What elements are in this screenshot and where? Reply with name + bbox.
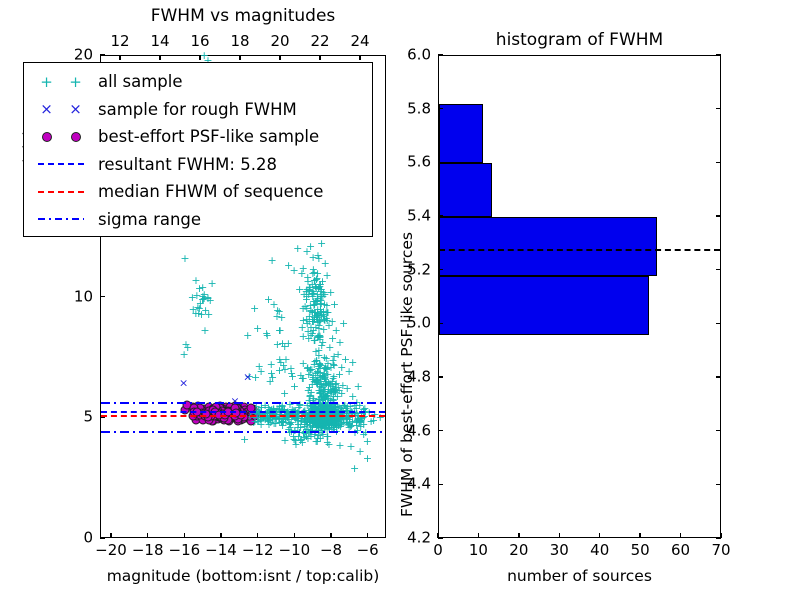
scatter-point-all-sample: + xyxy=(197,311,205,319)
scatter-point-all-sample: + xyxy=(250,305,258,313)
scatter-point-all-sample: + xyxy=(332,417,340,425)
scatter-point-all-sample: + xyxy=(346,403,354,411)
legend-label: all sample xyxy=(98,72,183,91)
scatter-point-all-sample: + xyxy=(355,418,363,426)
left-xtick-label: −6 xyxy=(357,543,379,558)
scatter-point-all-sample: + xyxy=(317,312,325,320)
scatter-point-all-sample: + xyxy=(328,318,336,326)
scatter-point-all-sample: + xyxy=(284,416,292,424)
scatter-point-all-sample: + xyxy=(313,376,321,384)
scatter-point-all-sample: + xyxy=(198,296,206,304)
scatter-point-all-sample: + xyxy=(323,416,331,424)
scatter-point-all-sample: + xyxy=(308,281,316,289)
right-ytick-mark xyxy=(438,162,443,163)
scatter-point-all-sample: + xyxy=(314,322,322,330)
right-xtick-mark xyxy=(559,533,560,538)
scatter-point-all-sample: + xyxy=(269,420,277,428)
left-xtick-label: −18 xyxy=(132,543,164,558)
left-xtick-label: −12 xyxy=(242,543,274,558)
scatter-point-all-sample: + xyxy=(332,327,340,335)
scatter-point-all-sample: + xyxy=(312,357,320,365)
scatter-point-all-sample: + xyxy=(311,298,319,306)
right-xtick-label: 0 xyxy=(433,543,443,558)
scatter-point-all-sample: + xyxy=(279,419,287,427)
left-xtick-label: −8 xyxy=(320,543,342,558)
scatter-point-all-sample: + xyxy=(193,304,201,312)
scatter-point-all-sample: + xyxy=(298,324,306,332)
scatter-point-all-sample: + xyxy=(316,380,324,388)
scatter-point-all-sample: + xyxy=(361,429,369,437)
scatter-point-all-sample: + xyxy=(317,342,325,350)
right-ytick-mark-mirror xyxy=(716,376,721,377)
scatter-point-all-sample: + xyxy=(323,433,331,441)
scatter-point-all-sample: + xyxy=(320,317,328,325)
scatter-point-all-sample: + xyxy=(324,322,332,330)
scatter-point-all-sample: + xyxy=(363,455,371,463)
scatter-point-all-sample: + xyxy=(316,422,324,430)
scatter-point-all-sample: + xyxy=(257,404,265,412)
scatter-point-all-sample: + xyxy=(316,417,324,425)
scatter-point-all-sample: + xyxy=(303,328,311,336)
scatter-point-all-sample: + xyxy=(314,421,322,429)
scatter-point-all-sample: + xyxy=(326,364,334,372)
scatter-point-all-sample: + xyxy=(207,280,215,288)
right-ytick-label: 5.8 xyxy=(407,101,431,116)
scatter-point-all-sample: + xyxy=(336,423,344,431)
histogram-reference-line xyxy=(439,249,720,251)
legend-item: best-effort PSF-like sample xyxy=(24,123,372,151)
scatter-point-all-sample: + xyxy=(312,417,320,425)
scatter-point-all-sample: + xyxy=(312,298,320,306)
right-ytick-label: 5.4 xyxy=(407,209,431,224)
scatter-point-all-sample: + xyxy=(321,393,329,401)
left-ytick-mark xyxy=(100,54,105,55)
scatter-point-all-sample: + xyxy=(319,313,327,321)
right-ytick-mark xyxy=(438,323,443,324)
scatter-point-all-sample: + xyxy=(302,316,310,324)
scatter-point-all-sample: + xyxy=(314,418,322,426)
scatter-point-all-sample: + xyxy=(319,420,327,428)
scatter-point-all-sample: + xyxy=(286,365,294,373)
scatter-point-all-sample: + xyxy=(277,314,285,322)
scatter-point-all-sample: + xyxy=(312,298,320,306)
scatter-point-all-sample: + xyxy=(287,370,295,378)
left-xtick-mark xyxy=(294,533,295,538)
scatter-point-all-sample: + xyxy=(337,420,345,428)
legend-marker xyxy=(24,163,98,165)
scatter-point-all-sample: + xyxy=(315,418,323,426)
scatter-point-all-sample: + xyxy=(321,388,329,396)
left-top-xtick-label: 24 xyxy=(350,34,369,49)
scatter-point-all-sample: + xyxy=(315,334,323,342)
scatter-point-all-sample: + xyxy=(335,371,343,379)
scatter-point-all-sample: + xyxy=(285,420,293,428)
scatter-point-all-sample: + xyxy=(326,417,334,425)
scatter-point-all-sample: + xyxy=(321,416,329,424)
scatter-point-all-sample: + xyxy=(263,332,271,340)
scatter-point-all-sample: + xyxy=(310,277,318,285)
scatter-point-all-sample: + xyxy=(313,314,321,322)
scatter-point-all-sample: + xyxy=(323,392,331,400)
left-top-xtick-mark xyxy=(159,55,160,60)
scatter-point-all-sample: + xyxy=(311,283,319,291)
scatter-point-all-sample: + xyxy=(309,318,317,326)
scatter-point-all-sample: + xyxy=(312,313,320,321)
right-xtick-label: 30 xyxy=(550,543,569,558)
scatter-point-all-sample: + xyxy=(313,417,321,425)
scatter-point-all-sample: + xyxy=(291,437,299,445)
scatter-point-all-sample: + xyxy=(267,361,275,369)
scatter-point-all-sample: + xyxy=(284,262,292,270)
scatter-point-all-sample: + xyxy=(318,422,326,430)
scatter-point-all-sample: + xyxy=(312,285,320,293)
scatter-point-all-sample: + xyxy=(314,325,322,333)
scatter-point-all-sample: + xyxy=(317,418,325,426)
scatter-point-all-sample: + xyxy=(331,417,339,425)
scatter-point-all-sample: + xyxy=(312,416,320,424)
scatter-point-all-sample: + xyxy=(275,416,283,424)
right-ytick-mark xyxy=(438,537,443,538)
scatter-point-all-sample: + xyxy=(299,291,307,299)
scatter-point-all-sample: + xyxy=(306,284,314,292)
scatter-point-all-sample: + xyxy=(344,421,352,429)
scatter-point-all-sample: + xyxy=(320,365,328,373)
scatter-point-all-sample: + xyxy=(337,364,345,372)
legend-label: sigma range xyxy=(98,210,201,229)
scatter-point-all-sample: + xyxy=(322,422,330,430)
scatter-point-all-sample: + xyxy=(319,382,327,390)
scatter-point-all-sample: + xyxy=(309,418,317,426)
scatter-point-all-sample: + xyxy=(305,367,313,375)
scatter-point-all-sample: + xyxy=(326,289,334,297)
scatter-point-all-sample: + xyxy=(253,325,261,333)
scatter-point-all-sample: + xyxy=(298,439,306,447)
scatter-point-all-sample: + xyxy=(327,420,335,428)
scatter-point-all-sample: + xyxy=(347,422,355,430)
scatter-point-all-sample: + xyxy=(301,419,309,427)
scatter-point-all-sample: + xyxy=(315,416,323,424)
legend-label: median FHWM of sequence xyxy=(98,182,323,201)
right-xtick-label: 10 xyxy=(469,543,488,558)
scatter-point-all-sample: + xyxy=(302,248,310,256)
scatter-point-all-sample: + xyxy=(302,296,310,304)
scatter-point-all-sample: + xyxy=(313,312,321,320)
scatter-point-all-sample: + xyxy=(304,286,312,294)
scatter-point-all-sample: + xyxy=(306,307,314,315)
scatter-point-all-sample: + xyxy=(296,372,304,380)
scatter-point-all-sample: + xyxy=(309,290,317,298)
scatter-point-all-sample: + xyxy=(325,421,333,429)
scatter-point-all-sample: + xyxy=(200,327,208,335)
scatter-point-all-sample: + xyxy=(311,378,319,386)
right-ytick-mark xyxy=(438,54,443,55)
scatter-point-all-sample: + xyxy=(342,416,350,424)
circle-icon xyxy=(71,132,81,142)
scatter-point-all-sample: + xyxy=(319,388,327,396)
scatter-point-all-sample: + xyxy=(324,382,332,390)
left-top-xtick-mark xyxy=(319,55,320,60)
scatter-point-all-sample: + xyxy=(284,340,292,348)
scatter-point-all-sample: + xyxy=(278,403,286,411)
scatter-point-all-sample: + xyxy=(330,301,338,309)
scatter-point-all-sample: + xyxy=(289,433,297,441)
scatter-point-all-sample: + xyxy=(305,318,313,326)
left-top-xtick-label: 18 xyxy=(230,34,249,49)
right-xaxis-label: number of sources xyxy=(507,569,652,585)
scatter-point-all-sample: + xyxy=(290,383,298,391)
scatter-point-all-sample: + xyxy=(329,420,337,428)
right-xtick-label: 40 xyxy=(590,543,609,558)
scatter-point-all-sample: + xyxy=(313,306,321,314)
scatter-point-all-sample: + xyxy=(268,416,276,424)
scatter-point-all-sample: + xyxy=(321,416,329,424)
scatter-point-all-sample: + xyxy=(328,378,336,386)
right-ytick-mark-mirror xyxy=(716,162,721,163)
scatter-point-all-sample: + xyxy=(331,421,339,429)
scatter-point-all-sample: + xyxy=(321,400,329,408)
scatter-point-all-sample: + xyxy=(319,388,327,396)
scatter-point-all-sample: + xyxy=(329,385,337,393)
scatter-point-all-sample: + xyxy=(311,309,319,317)
scatter-point-all-sample: + xyxy=(328,357,336,365)
scatter-point-all-sample: + xyxy=(330,418,338,426)
scatter-point-all-sample: + xyxy=(269,301,277,309)
left-top-xtick-mark xyxy=(119,55,120,60)
scatter-point-all-sample: + xyxy=(331,387,339,395)
scatter-point-all-sample: + xyxy=(329,361,337,369)
scatter-point-all-sample: + xyxy=(315,317,323,325)
scatter-point-all-sample: + xyxy=(312,420,320,428)
scatter-point-all-sample: + xyxy=(321,260,329,268)
legend-box: ++all sample××sample for rough FWHMbest-… xyxy=(23,62,373,237)
scatter-point-all-sample: + xyxy=(314,417,322,425)
scatter-point-all-sample: + xyxy=(264,417,272,425)
scatter-point-all-sample: + xyxy=(277,419,285,427)
scatter-point-all-sample: + xyxy=(299,265,307,273)
legend-marker xyxy=(24,132,98,142)
plus-icon: + xyxy=(69,77,82,87)
scatter-point-all-sample: + xyxy=(328,383,336,391)
scatter-point-all-sample: + xyxy=(350,465,358,473)
legend-label: sample for rough FWHM xyxy=(98,100,297,119)
scatter-point-all-sample: + xyxy=(294,433,302,441)
scatter-point-all-sample: + xyxy=(331,389,339,397)
scatter-point-all-sample: + xyxy=(324,379,332,387)
scatter-point-all-sample: + xyxy=(322,417,330,425)
right-xtick-label: 20 xyxy=(509,543,528,558)
scatter-point-all-sample: + xyxy=(304,371,312,379)
scatter-point-all-sample: + xyxy=(299,317,307,325)
scatter-point-all-sample: + xyxy=(313,381,321,389)
scatter-point-all-sample: + xyxy=(321,416,329,424)
scatter-point-all-sample: + xyxy=(313,311,321,319)
scatter-point-all-sample: + xyxy=(330,419,338,427)
scatter-point-all-sample: + xyxy=(308,418,316,426)
scatter-point-all-sample: + xyxy=(306,302,314,310)
right-xtick-label: 60 xyxy=(671,543,690,558)
scatter-point-all-sample: + xyxy=(321,378,329,386)
scatter-point-all-sample: + xyxy=(329,418,337,426)
scatter-point-all-sample: + xyxy=(329,419,337,427)
scatter-point-all-sample: + xyxy=(343,385,351,393)
left-plot-title: FWHM vs magnitudes xyxy=(151,8,336,25)
scatter-point-all-sample: + xyxy=(323,419,331,427)
scatter-point-all-sample: + xyxy=(321,403,329,411)
scatter-point-all-sample: + xyxy=(281,356,289,364)
scatter-point-all-sample: + xyxy=(320,370,328,378)
scatter-point-all-sample: + xyxy=(331,403,339,411)
scatter-point-all-sample: + xyxy=(314,284,322,292)
scatter-point-all-sample: + xyxy=(307,403,315,411)
left-top-xtick-mark xyxy=(199,55,200,60)
scatter-point-all-sample: + xyxy=(303,274,311,282)
scatter-point-all-sample: + xyxy=(311,421,319,429)
scatter-point-all-sample: + xyxy=(313,377,321,385)
scatter-point-all-sample: + xyxy=(307,416,315,424)
scatter-point-all-sample: + xyxy=(311,324,319,332)
scatter-point-all-sample: + xyxy=(333,393,341,401)
scatter-point-all-sample: + xyxy=(277,418,285,426)
left-xtick-mark xyxy=(147,533,148,538)
scatter-point-all-sample: + xyxy=(319,422,327,430)
scatter-point-all-sample: + xyxy=(311,284,319,292)
scatter-point-all-sample: + xyxy=(315,361,323,369)
scatter-point-all-sample: + xyxy=(295,286,303,294)
scatter-point-all-sample: + xyxy=(336,416,344,424)
scatter-point-all-sample: + xyxy=(296,418,304,426)
scatter-point-all-sample: + xyxy=(315,403,323,411)
scatter-point-all-sample: + xyxy=(328,335,336,343)
scatter-point-all-sample: + xyxy=(316,281,324,289)
scatter-point-all-sample: + xyxy=(293,417,301,425)
scatter-point-all-sample: + xyxy=(331,421,339,429)
scatter-point-all-sample: + xyxy=(327,389,335,397)
scatter-point-all-sample: + xyxy=(321,376,329,384)
scatter-point-all-sample: + xyxy=(314,363,322,371)
scatter-point-all-sample: + xyxy=(356,419,364,427)
scatter-point-all-sample: + xyxy=(354,383,362,391)
scatter-point-all-sample: + xyxy=(294,421,302,429)
scatter-point-all-sample: + xyxy=(319,373,327,381)
scatter-point-all-sample: + xyxy=(300,415,308,423)
scatter-point-all-sample: + xyxy=(315,390,323,398)
scatter-point-all-sample: + xyxy=(329,421,337,429)
right-ytick-label: 4.2 xyxy=(407,531,431,546)
scatter-point-all-sample: + xyxy=(312,417,320,425)
scatter-point-all-sample: + xyxy=(275,419,283,427)
scatter-point-all-sample: + xyxy=(313,368,321,376)
scatter-point-all-sample: + xyxy=(320,372,328,380)
scatter-point-all-sample: + xyxy=(305,313,313,321)
scatter-point-all-sample: + xyxy=(305,418,313,426)
scatter-point-all-sample: + xyxy=(342,419,350,427)
scatter-point-all-sample: + xyxy=(264,421,272,429)
scatter-point-all-sample: + xyxy=(306,332,314,340)
scatter-point-all-sample: + xyxy=(353,416,361,424)
scatter-point-all-sample: + xyxy=(331,404,339,412)
scatter-point-all-sample: + xyxy=(320,394,328,402)
scatter-point-all-sample: + xyxy=(319,391,327,399)
scatter-point-all-sample: + xyxy=(275,367,283,375)
scatter-point-all-sample: + xyxy=(306,422,314,430)
scatter-point-all-sample: + xyxy=(317,240,325,248)
scatter-point-all-sample: + xyxy=(300,416,308,424)
scatter-point-all-sample: + xyxy=(309,419,317,427)
scatter-point-all-sample: + xyxy=(324,386,332,394)
scatter-point-all-sample: + xyxy=(204,311,212,319)
scatter-point-all-sample: + xyxy=(326,388,334,396)
scatter-point-all-sample: + xyxy=(315,372,323,380)
scatter-point-all-sample: + xyxy=(310,337,318,345)
scatter-point-all-sample: + xyxy=(314,416,322,424)
scatter-point-all-sample: + xyxy=(305,287,313,295)
scatter-point-all-sample: + xyxy=(313,377,321,385)
scatter-point-all-sample: + xyxy=(316,420,324,428)
scatter-point-all-sample: + xyxy=(303,364,311,372)
scatter-point-all-sample: + xyxy=(316,374,324,382)
scatter-point-all-sample: + xyxy=(316,288,324,296)
scatter-point-all-sample: + xyxy=(338,382,346,390)
scatter-point-all-sample: + xyxy=(309,420,317,428)
scatter-point-all-sample: + xyxy=(304,416,312,424)
scatter-point-all-sample: + xyxy=(308,397,316,405)
scatter-point-all-sample: + xyxy=(315,418,323,426)
scatter-point-all-sample: + xyxy=(356,423,364,431)
scatter-point-all-sample: + xyxy=(313,316,321,324)
left-top-xtick-label: 22 xyxy=(310,34,329,49)
scatter-point-all-sample: + xyxy=(323,417,331,425)
left-xtick-label: −16 xyxy=(169,543,201,558)
scatter-point-all-sample: + xyxy=(317,429,325,437)
scatter-point-all-sample: + xyxy=(273,341,281,349)
scatter-point-all-sample: + xyxy=(312,275,320,283)
scatter-point-all-sample: + xyxy=(299,305,307,313)
scatter-point-all-sample: + xyxy=(325,419,333,427)
scatter-point-all-sample: + xyxy=(240,436,248,444)
scatter-point-all-sample: + xyxy=(323,360,331,368)
left-top-xtick-mark xyxy=(359,55,360,60)
right-xtick-mark xyxy=(680,533,681,538)
left-ytick-label: 0 xyxy=(83,531,93,546)
scatter-point-all-sample: + xyxy=(317,418,325,426)
scatter-point-all-sample: + xyxy=(310,337,318,345)
scatter-point-all-sample: + xyxy=(327,420,335,428)
legend-marker xyxy=(24,191,98,193)
legend-marker: ++ xyxy=(24,77,98,87)
scatter-point-all-sample: + xyxy=(276,327,284,335)
scatter-point-all-sample: + xyxy=(323,418,331,426)
scatter-point-all-sample: + xyxy=(306,308,314,316)
scatter-point-all-sample: + xyxy=(325,416,333,424)
scatter-point-all-sample: + xyxy=(319,326,327,334)
scatter-point-all-sample: + xyxy=(310,309,318,317)
left-ytick-mark xyxy=(100,296,105,297)
scatter-point-all-sample: + xyxy=(348,418,356,426)
scatter-point-all-sample: + xyxy=(280,437,288,445)
scatter-point-all-sample: + xyxy=(314,332,322,340)
scatter-point-all-sample: + xyxy=(181,341,189,349)
left-xtick-mark xyxy=(110,533,111,538)
scatter-point-all-sample: + xyxy=(320,416,328,424)
scatter-point-all-sample: + xyxy=(345,416,353,424)
scatter-point-all-sample: + xyxy=(308,309,316,317)
scatter-point-all-sample: + xyxy=(339,320,347,328)
right-ytick-mark xyxy=(438,484,443,485)
scatter-point-all-sample: + xyxy=(322,392,330,400)
scatter-point-all-sample: + xyxy=(278,340,286,348)
scatter-point-all-sample: + xyxy=(318,293,326,301)
scatter-point-all-sample: + xyxy=(323,390,331,398)
